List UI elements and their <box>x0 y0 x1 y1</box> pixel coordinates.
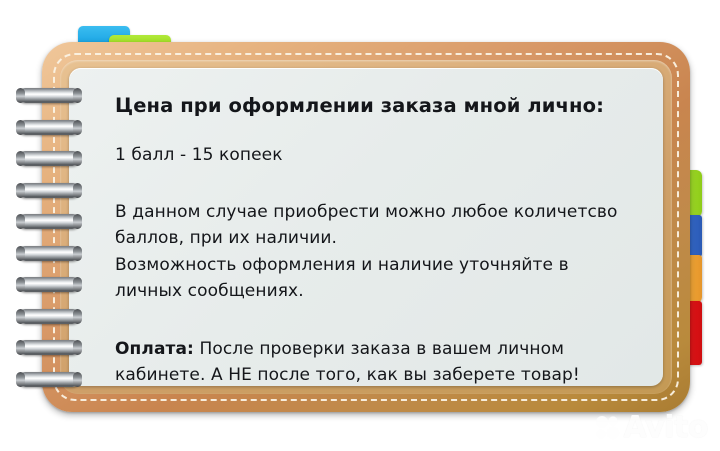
avito-wordmark: Avito <box>624 413 708 443</box>
availability-paragraph: В данном случае приобрести можно любое к… <box>115 200 639 252</box>
avito-logo-icon <box>595 415 621 441</box>
screenshot-canvas: Цена при оформлении заказа мной лично: 1… <box>0 0 720 451</box>
payment-paragraph: Оплата: После проверки заказа в вашем ли… <box>115 337 635 386</box>
payment-label: Оплата: <box>115 339 194 359</box>
contact-paragraph: Возможность оформления и наличие уточняй… <box>115 253 639 305</box>
avito-watermark: Avito <box>595 413 708 443</box>
notebook-page: Цена при оформлении заказа мной лично: 1… <box>69 68 663 386</box>
notebook-cover: Цена при оформлении заказа мной лично: 1… <box>42 42 690 412</box>
price-line: 1 балл - 15 копеек <box>115 145 639 165</box>
page-content: Цена при оформлении заказа мной лично: 1… <box>115 94 639 372</box>
page-title: Цена при оформлении заказа мной лично: <box>115 94 639 117</box>
